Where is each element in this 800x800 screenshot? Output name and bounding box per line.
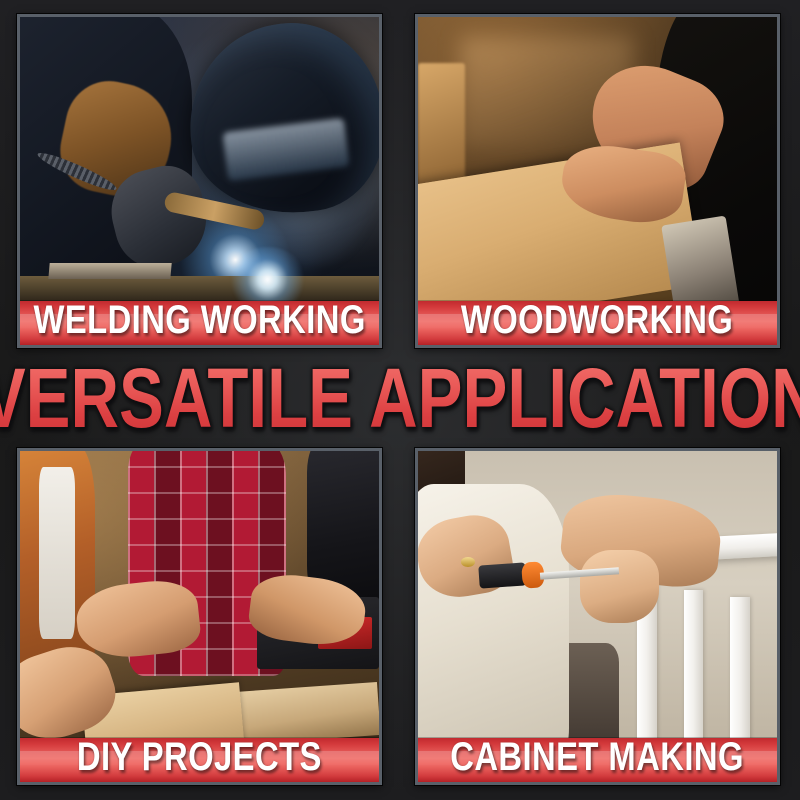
photo-woodworking	[418, 17, 777, 345]
panel-woodworking[interactable]: WOODWORKING	[415, 14, 780, 348]
photo-welding	[20, 17, 379, 345]
photo-cabinet-making	[418, 451, 777, 782]
headline-container: VERSATILE APPLICATION	[0, 356, 800, 440]
wedding-ring-shape	[461, 557, 475, 567]
label-band-diy-projects: DIY PROJECTS	[20, 738, 379, 782]
label-band-woodworking: WOODWORKING	[418, 301, 777, 345]
right-hand-shape	[580, 550, 659, 623]
screwdriver-handle-shape	[478, 562, 526, 588]
poster-canvas: WELDING WORKING WOODWORKING VERSATILE AP…	[0, 0, 800, 800]
panel-welding[interactable]: WELDING WORKING	[17, 14, 382, 348]
panel-label-welding: WELDING WORKING	[33, 300, 365, 340]
panel-cabinet-making[interactable]: CABINET MAKING	[415, 448, 780, 785]
metal-workpiece-shape	[48, 263, 171, 279]
label-band-welding: WELDING WORKING	[20, 301, 379, 345]
welding-helmet-shape	[176, 17, 379, 226]
panel-label-woodworking: WOODWORKING	[461, 300, 733, 340]
photo-diy-projects	[20, 451, 379, 782]
panel-label-cabinet-making: CABINET MAKING	[451, 737, 745, 777]
panel-label-diy-projects: DIY PROJECTS	[77, 737, 322, 777]
panel-diy-projects[interactable]: DIY PROJECTS	[17, 448, 382, 785]
poster-headline: VERSATILE APPLICATION	[0, 356, 800, 440]
label-band-cabinet-making: CABINET MAKING	[418, 738, 777, 782]
